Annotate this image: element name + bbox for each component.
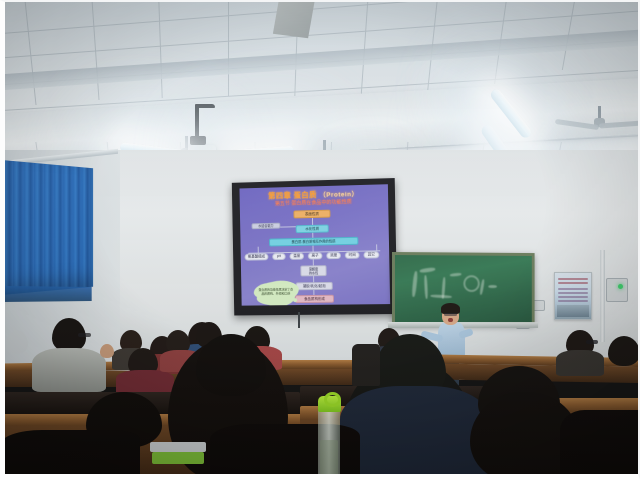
window-curtain[interactable] [2,160,93,295]
slide-node-interaction: 蛋白质-蛋白质相互作用的性质 [269,237,358,247]
student-head [608,336,640,366]
ceiling-duct [273,0,315,38]
slide-node-gel: 凝胶/乳化/起泡 [296,282,333,290]
notebook [152,452,204,464]
slide-node-tag-left: 水结合能力 [252,223,281,230]
wall-poster [554,272,592,320]
scene: 第四章 蛋白质 （Protein） 第五节 蛋白质在食品中的功能性质 表面性质 … [0,0,640,480]
projector-mount-bracket [195,104,215,108]
slide-tag-1: 氨基酸组成 [245,253,269,260]
chalk-mark [479,279,484,295]
wall-pipe [600,250,605,342]
projector-mount-plate [190,136,206,145]
lecturer-glasses [444,313,457,316]
chalk-mark [424,275,428,299]
callout-tail-dot [293,298,297,302]
wall-control-box[interactable] [606,278,628,302]
water-bottle-handle[interactable] [324,392,341,407]
foreground-student-body [340,386,490,480]
chalk-mark [430,294,452,298]
student-body [556,350,604,376]
slide-callout-cloud: 蛋白质的功能性质决定了食品的质构、外观和口感 [256,281,295,303]
backpack [352,344,380,386]
projection-screen[interactable]: 第四章 蛋白质 （Protein） 第五节 蛋白质在食品中的功能性质 表面性质 … [232,178,397,315]
callout-tail-dot [289,294,292,297]
ceiling-fan [556,106,640,132]
student-glasses [586,340,598,344]
slide-tag-2: pH [272,253,286,260]
student-head [6,330,28,354]
classroom-photo: 第四章 蛋白质 （Protein） 第五节 蛋白质在食品中的功能性质 表面性质 … [0,0,640,480]
chalk-mark [488,285,497,288]
chalk-mark [450,273,462,277]
student-body [32,348,106,392]
lecturer-mouth [448,318,453,322]
student-glasses [78,333,91,337]
slide-content: 第四章 蛋白质 （Protein） 第五节 蛋白质在食品中的功能性质 表面性质 … [239,184,390,305]
curtain-hem [2,286,92,302]
student-head [100,344,114,358]
chalkboard [392,252,535,326]
chalk-circle [463,275,479,292]
slide-node-texture: 食品质构形成 [295,295,334,303]
screen-frame: 第四章 蛋白质 （Protein） 第五节 蛋白质在食品中的功能性质 表面性质 … [232,178,397,315]
screen-support-pole [298,312,300,328]
water-bottle-contents [320,440,338,478]
slide-tag-4: 离子 [308,252,323,259]
chalk-mark [419,267,435,273]
slide-tag-7: 其它 [363,251,379,258]
slide-tag-6: 时间 [345,252,360,259]
student-body [116,370,174,394]
foreground-shoulder [0,430,140,480]
chalk-mark [411,271,418,297]
slide-tag-5: 浓度 [326,252,341,259]
projector-mount-arm [195,104,199,138]
slide-tag-3: 温度 [289,253,304,260]
foreground-shoulder [560,410,640,480]
paper-stack [150,442,206,452]
slide-node-solubility: 溶解度 持水性 [300,265,326,276]
